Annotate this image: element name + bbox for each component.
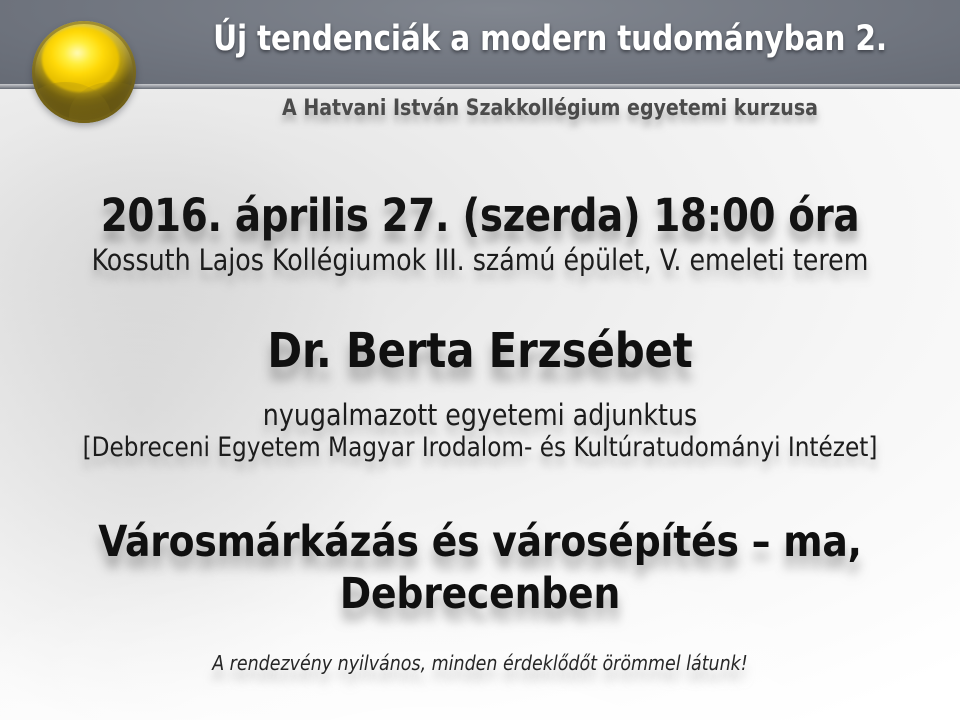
lecture-title: Városmárkázás és városépítés – ma, Debre…: [71, 516, 890, 620]
speaker-name: Dr. Berta Erzsébet: [14, 323, 945, 379]
poster-body: 2016. április 27. (szerda) 18:00 óra Kos…: [0, 0, 960, 720]
public-notice: A rendezvény nyilvános, minden érdeklődő…: [14, 651, 945, 675]
event-poster: Új tendenciák a modern tudományban 2. A …: [0, 0, 960, 720]
event-datetime: 2016. április 27. (szerda) 18:00 óra: [19, 190, 941, 242]
event-venue: Kossuth Lajos Kollégiumok III. számú épü…: [14, 243, 945, 277]
speaker-affiliation: [Debreceni Egyetem Magyar Irodalom- és K…: [22, 432, 939, 464]
speaker-role: nyugalmazott egyetemi adjunktus: [14, 398, 945, 432]
